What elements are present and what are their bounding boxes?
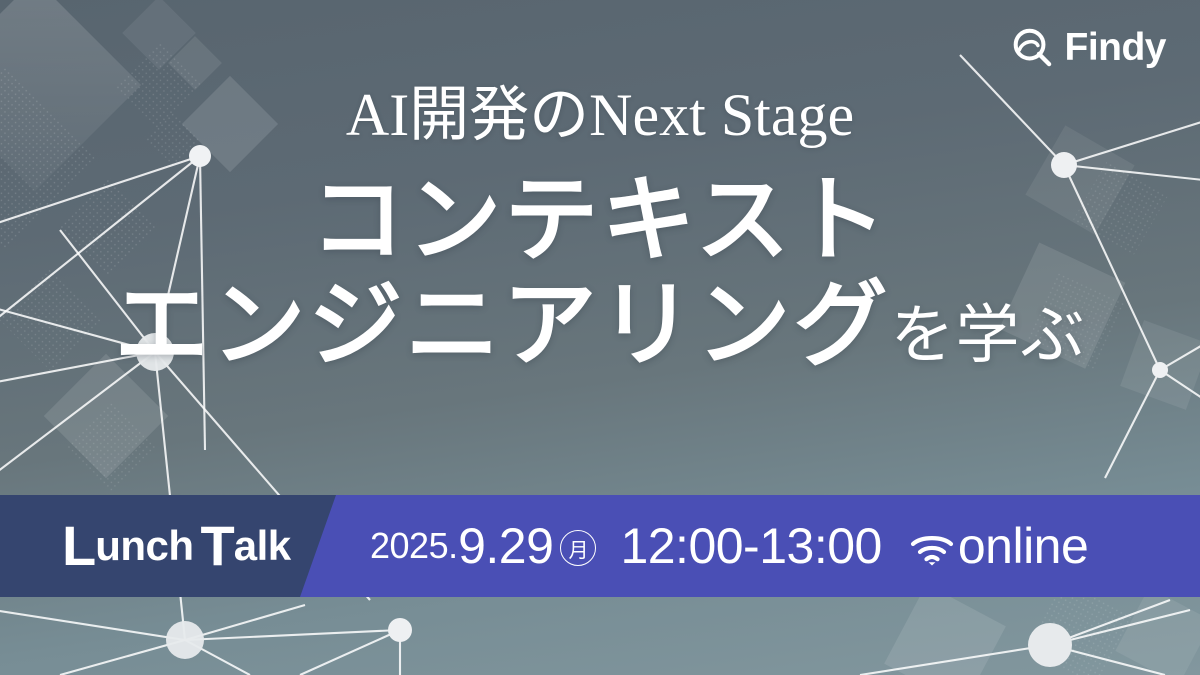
event-meta: 2025.9.29 月 12:00-13:00 online xyxy=(370,495,1088,597)
headline-line-2: エンジニアリングを学ぶ xyxy=(0,270,1200,381)
event-day-of-week: 月 xyxy=(560,530,596,566)
series-rest-alk: alk xyxy=(234,525,291,567)
headline-line-1: コンテキスト xyxy=(0,165,1200,276)
series-label: LunchTalk xyxy=(62,495,291,597)
wifi-icon xyxy=(909,533,955,567)
series-cap-t: T xyxy=(201,518,234,574)
event-info-bar: LunchTalk 2025.9.29 月 12:00-13:00 online xyxy=(0,495,1200,597)
event-year: 2025 xyxy=(370,525,448,567)
event-time: 12:00-13:00 xyxy=(620,517,881,575)
headline-line-2-main: エンジニアリング xyxy=(114,272,890,377)
event-banner: Findy AI開発のNext Stage コンテキスト エンジニアリングを学ぶ… xyxy=(0,0,1200,675)
findy-magnifier-icon xyxy=(1011,26,1054,69)
headline-block: AI開発のNext Stage コンテキスト エンジニアリングを学ぶ xyxy=(0,84,1200,381)
series-rest-unch: unch xyxy=(95,525,193,567)
series-cap-l: L xyxy=(62,518,95,574)
headline-line-2-suffix: を学ぶ xyxy=(891,299,1086,371)
findy-logo-text: Findy xyxy=(1065,28,1167,67)
event-venue: online xyxy=(958,517,1088,575)
headline-kicker: AI開発のNext Stage xyxy=(0,84,1200,147)
findy-logo[interactable]: Findy xyxy=(1011,26,1167,69)
event-month-day: 9.29 xyxy=(458,517,553,575)
date-separator: . xyxy=(448,525,458,567)
